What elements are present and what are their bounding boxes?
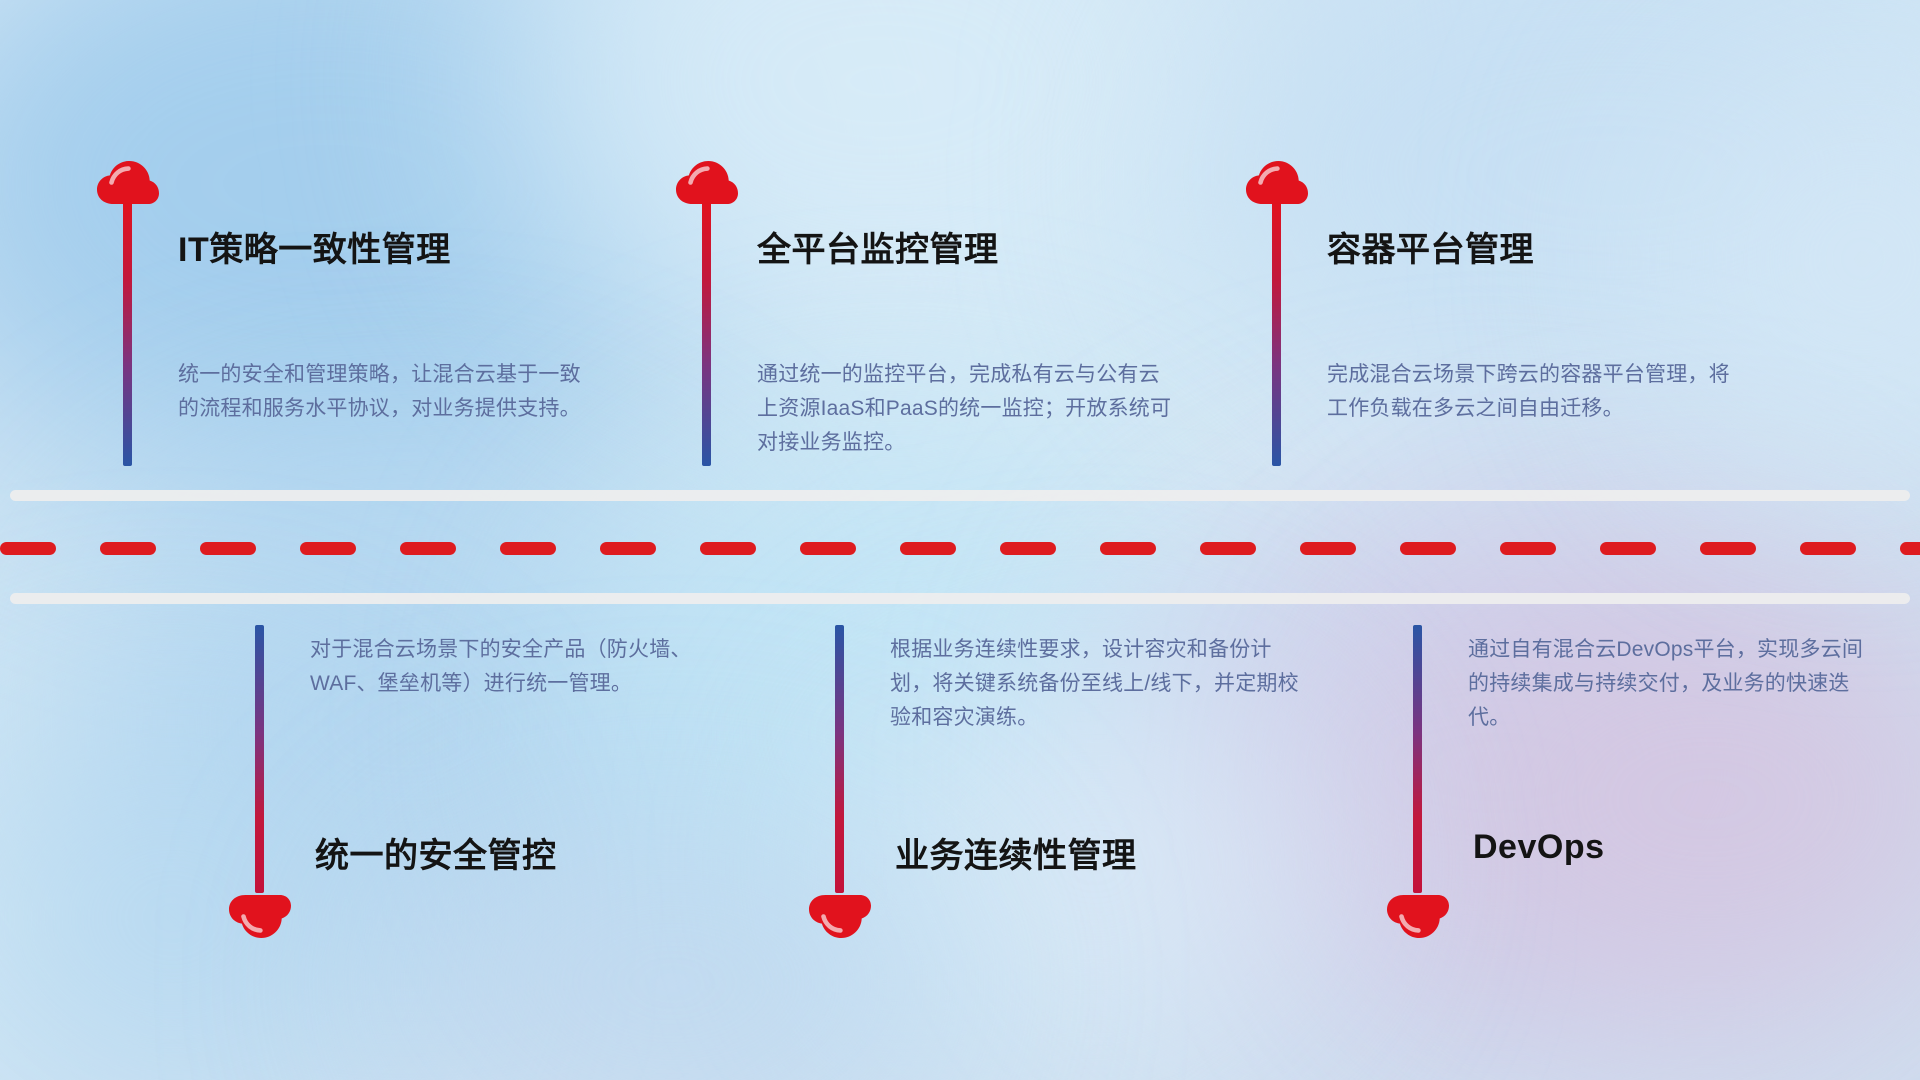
infographic-stage: IT策略一致性管理 统一的安全和管理策略，让混合云基于一致的流程和服务水平协议，…	[0, 0, 1920, 1080]
top-item-2-title: 全平台监控管理	[757, 222, 999, 271]
bottom-item-3-description: 通过自有混合云DevOps平台，实现多云间的持续集成与持续交付，及业务的快速迭代…	[1468, 633, 1882, 735]
cloud-icon	[1386, 893, 1450, 939]
cloud-icon	[228, 893, 292, 939]
bottom-item-3-title: DevOps	[1473, 828, 1605, 867]
road-edge-line-top	[10, 490, 1910, 501]
timeline-stem	[255, 625, 264, 893]
timeline-stem	[1413, 625, 1422, 893]
road-divider	[0, 490, 1920, 610]
top-item-1-description: 统一的安全和管理策略，让混合云基于一致的流程和服务水平协议，对业务提供支持。	[178, 358, 598, 426]
timeline-stem	[835, 625, 844, 893]
bottom-item-2-title: 业务连续性管理	[895, 828, 1137, 877]
bottom-item-1-title: 统一的安全管控	[315, 828, 557, 877]
top-item-3-title: 容器平台管理	[1327, 222, 1534, 271]
timeline-stem	[123, 200, 132, 466]
bottom-item-1-description: 对于混合云场景下的安全产品（防火墙、WAF、堡垒机等）进行统一管理。	[310, 633, 722, 701]
cloud-icon	[808, 893, 872, 939]
road-center-dashes	[0, 542, 1920, 555]
timeline-stem	[702, 200, 711, 466]
top-item-1-title: IT策略一致性管理	[178, 222, 451, 271]
top-item-2-description: 通过统一的监控平台，完成私有云与公有云上资源IaaS和PaaS的统一监控；开放系…	[757, 358, 1175, 460]
top-item-3-description: 完成混合云场景下跨云的容器平台管理，将工作负载在多云之间自由迁移。	[1327, 358, 1747, 426]
road-edge-line-bottom	[10, 593, 1910, 604]
timeline-stem	[1272, 200, 1281, 466]
bottom-item-2-description: 根据业务连续性要求，设计容灾和备份计划，将关键系统备份至线上/线下，并定期校验和…	[890, 633, 1304, 735]
